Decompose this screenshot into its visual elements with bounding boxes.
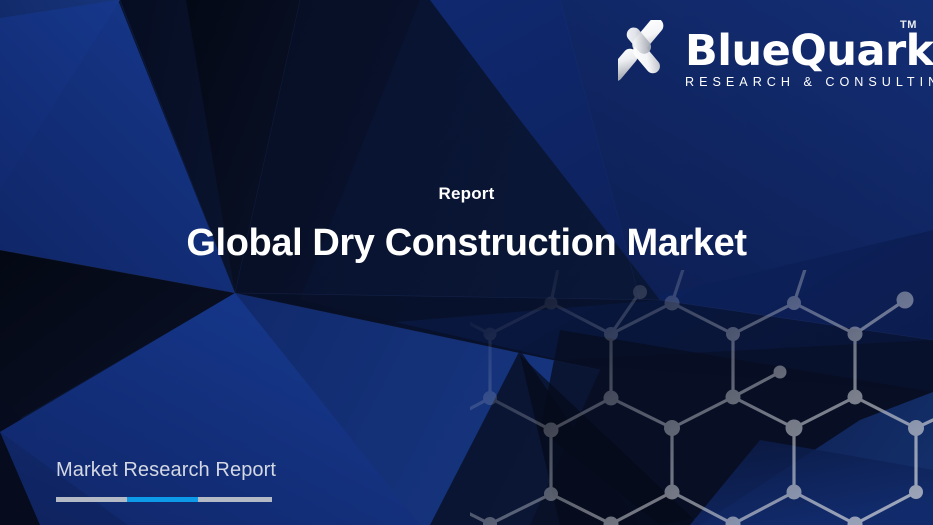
brand-logo: BlueQuark RESEARCH & CONSULTING TM [618,14,918,106]
page-title: Global Dry Construction Market [0,220,933,266]
accent-bar-segment-right [198,497,272,502]
cover-title-block: Report Global Dry Construction Market [0,183,933,266]
accent-bar-segment-left [56,497,127,502]
trademark-symbol: TM [900,19,917,31]
brand-name-quark: Quark [790,26,933,76]
accent-bar-segment-middle [127,497,198,502]
brand-name-blue: Blue [685,26,790,76]
brand-name: BlueQuark [685,28,917,74]
cover-footer-block: Market Research Report [56,458,396,502]
report-kicker: Report [0,183,933,205]
report-cover: BlueQuark RESEARCH & CONSULTING TM Repor… [0,0,933,525]
footer-label: Market Research Report [56,458,396,483]
bluequark-chevron-mark [618,20,680,102]
brand-wordmark: BlueQuark RESEARCH & CONSULTING [685,28,917,89]
accent-bar [56,497,272,502]
brand-tagline: RESEARCH & CONSULTING [685,75,917,89]
